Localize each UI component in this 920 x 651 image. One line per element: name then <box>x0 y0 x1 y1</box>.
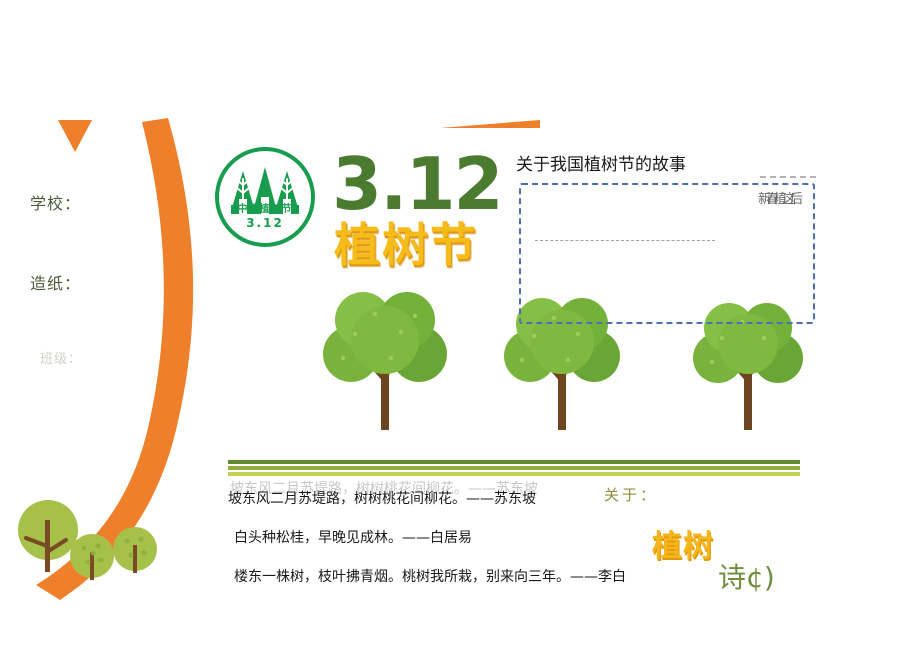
page-title-date: 3.12 <box>332 148 502 220</box>
tree-trunk <box>381 362 389 430</box>
orange-triangle <box>58 120 92 152</box>
school-field-label: 学校： <box>30 190 81 214</box>
poem-line-2: 白头种松桂，早晚见成林。——白居易 <box>234 527 472 547</box>
tree-branch <box>546 358 576 380</box>
tree-trunk <box>558 362 566 430</box>
tree-foliage <box>323 292 447 382</box>
decoration-layer <box>0 0 920 651</box>
cluster-tree-large <box>18 500 78 572</box>
poster-page: 中国植树节 3.12 3.12 植树节 学校： 造纸： 班级： 关于我国植树节的… <box>0 0 920 651</box>
ground-stripe-2 <box>228 466 800 470</box>
tree-trunk <box>744 362 752 430</box>
tree-branch <box>732 358 762 380</box>
about-label: 关于： <box>604 484 658 505</box>
tree-dots <box>341 312 417 360</box>
poem-line-3: 楼东一株树，枝叶拂青烟。桃树我所栽，别来向三年。——李白 <box>234 566 626 586</box>
paper-field-label: 造纸： <box>30 270 81 294</box>
page-title-festival: 植树节 <box>334 222 478 268</box>
tree-dots <box>710 320 766 364</box>
ground-stripe-1 <box>228 460 800 464</box>
ghost-note-rule <box>760 176 816 178</box>
tree-cluster-bottom-left <box>18 500 157 580</box>
poem-line-1: 坡东风二月苏堤路，树树桃花间柳花。——苏东坡 <box>228 488 536 508</box>
emblem-date: 3.12 <box>222 216 308 230</box>
orange-wedge-top <box>440 120 540 128</box>
story-inner-rule <box>535 240 715 241</box>
emblem-caption: 中国植树节 <box>222 200 308 215</box>
china-arbor-day-emblem <box>217 149 313 245</box>
tree-branch <box>369 358 399 380</box>
cluster-tree-small-2 <box>113 527 157 573</box>
poem-word: 诗¢) <box>718 556 775 596</box>
ghost-note-text: 新春植这后 <box>758 188 798 207</box>
story-heading: 关于我国植树节的故事 <box>516 150 686 175</box>
class-field-label: 班级： <box>40 348 82 367</box>
tree-1 <box>323 292 447 430</box>
cluster-tree-small-1 <box>70 534 114 580</box>
ground-stripe-3 <box>228 472 800 476</box>
plant-word: 植树 <box>652 521 714 565</box>
